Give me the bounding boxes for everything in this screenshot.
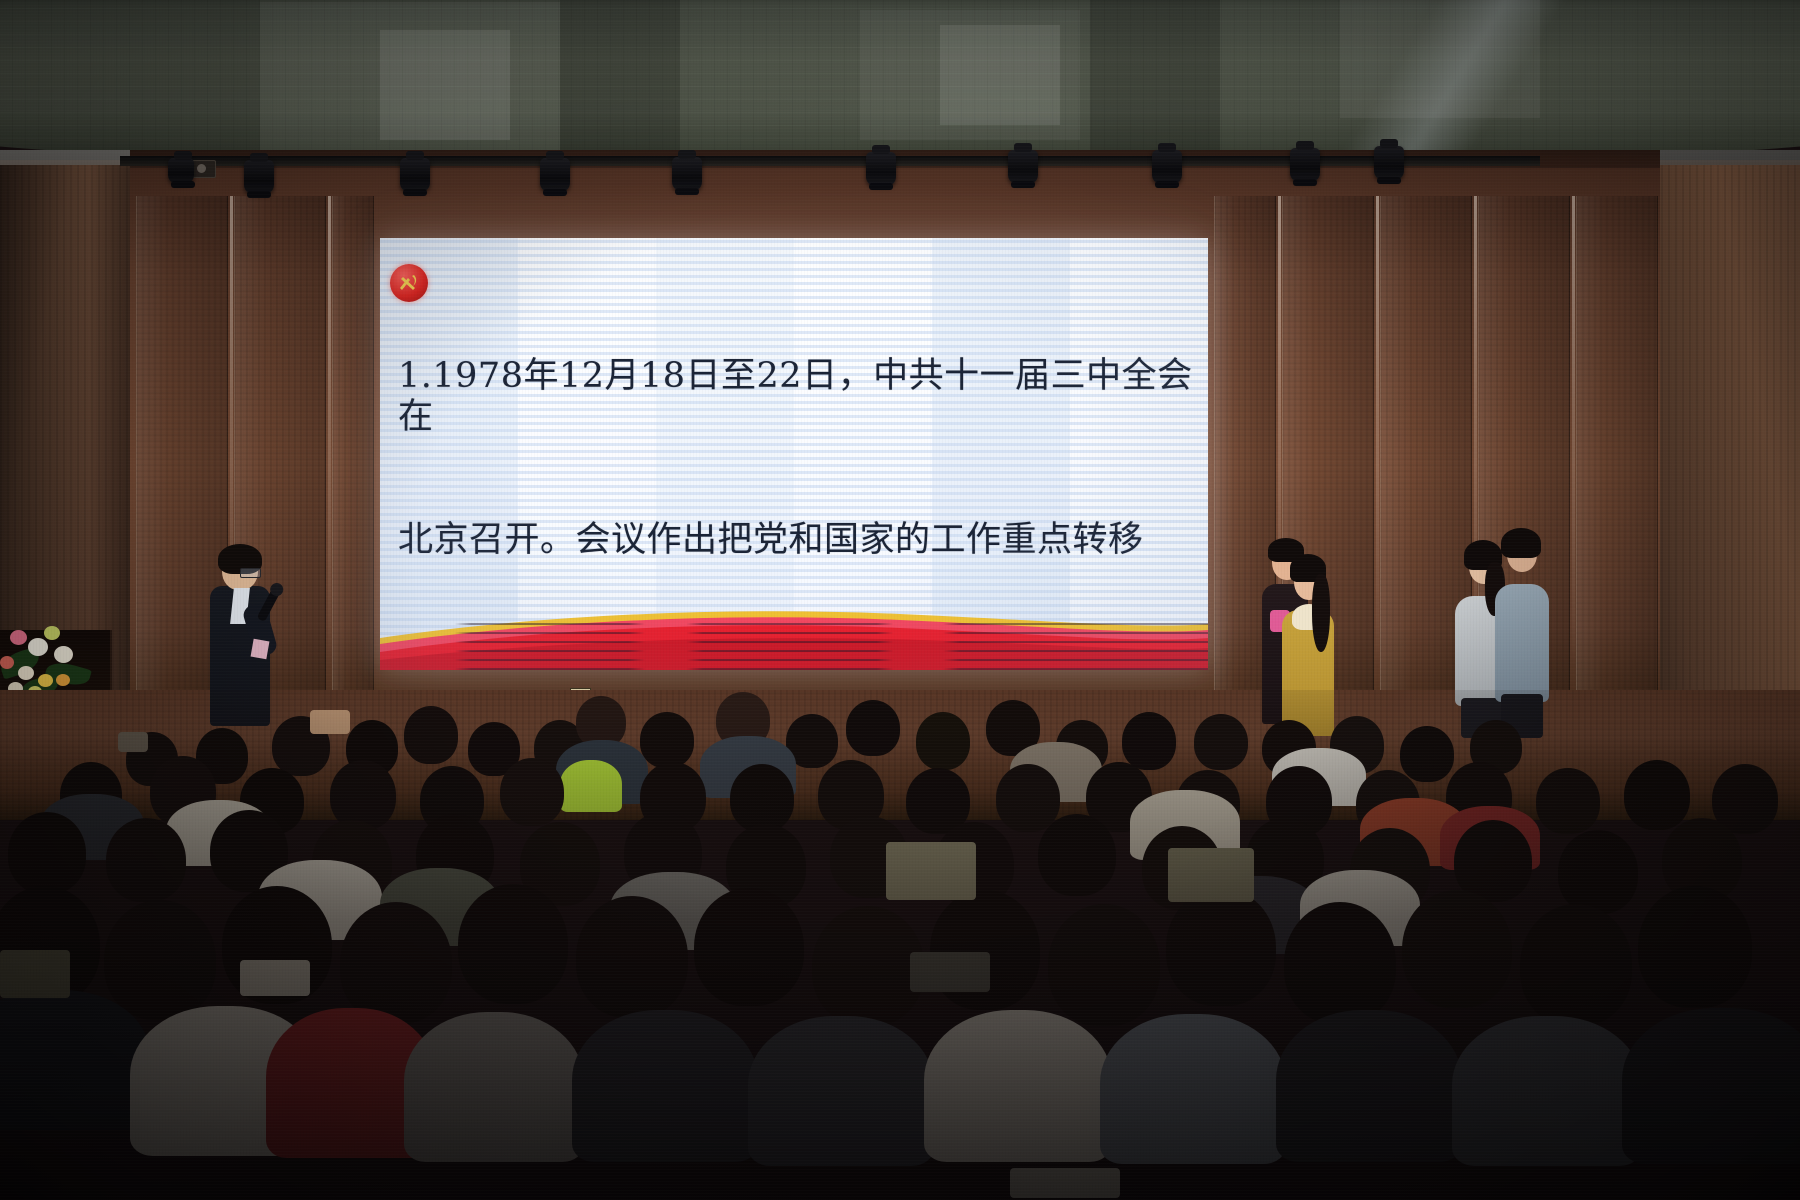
- ceiling-shadow: [0, 0, 260, 155]
- seated-audience: [0, 690, 1800, 1200]
- stage-spotlight: [400, 158, 430, 192]
- stage-spotlight: [244, 160, 274, 194]
- stage-spotlight: [1008, 150, 1038, 184]
- stage-spotlight: [672, 157, 702, 191]
- flower-arrangement: [0, 612, 104, 702]
- wall-panel-gap: [1376, 196, 1379, 666]
- stage-spotlight: [540, 158, 570, 192]
- wall-panel: [332, 196, 374, 706]
- stage-spotlight: [1374, 146, 1404, 180]
- light-beam: [1269, 0, 1610, 165]
- lighting-truss: [120, 156, 1540, 166]
- screen-vignette: [380, 238, 1208, 670]
- stage-spotlight: [1152, 150, 1182, 184]
- projection-screen: 1.1978年12月18日至22日，中共十一届三中全会在 北京召开。会议作出把党…: [380, 238, 1208, 670]
- stage-spotlight: [168, 158, 194, 184]
- ceiling-shadow: [560, 0, 680, 155]
- wall-panel-gap: [1572, 196, 1575, 666]
- wall-panel: [1576, 196, 1658, 706]
- stage-spotlight: [1290, 148, 1320, 182]
- ceiling-panel: [0, 0, 1800, 165]
- auditorium-photo: 1.1978年12月18日至22日，中共十一届三中全会在 北京召开。会议作出把党…: [0, 0, 1800, 1200]
- ceiling-light-patch: [940, 25, 1060, 125]
- ceiling-shadow: [1090, 0, 1220, 155]
- wall-panel-gap: [328, 196, 331, 666]
- audience-shading: [0, 690, 1800, 1200]
- ceiling-light-patch: [380, 30, 510, 140]
- stage-spotlight: [866, 152, 896, 186]
